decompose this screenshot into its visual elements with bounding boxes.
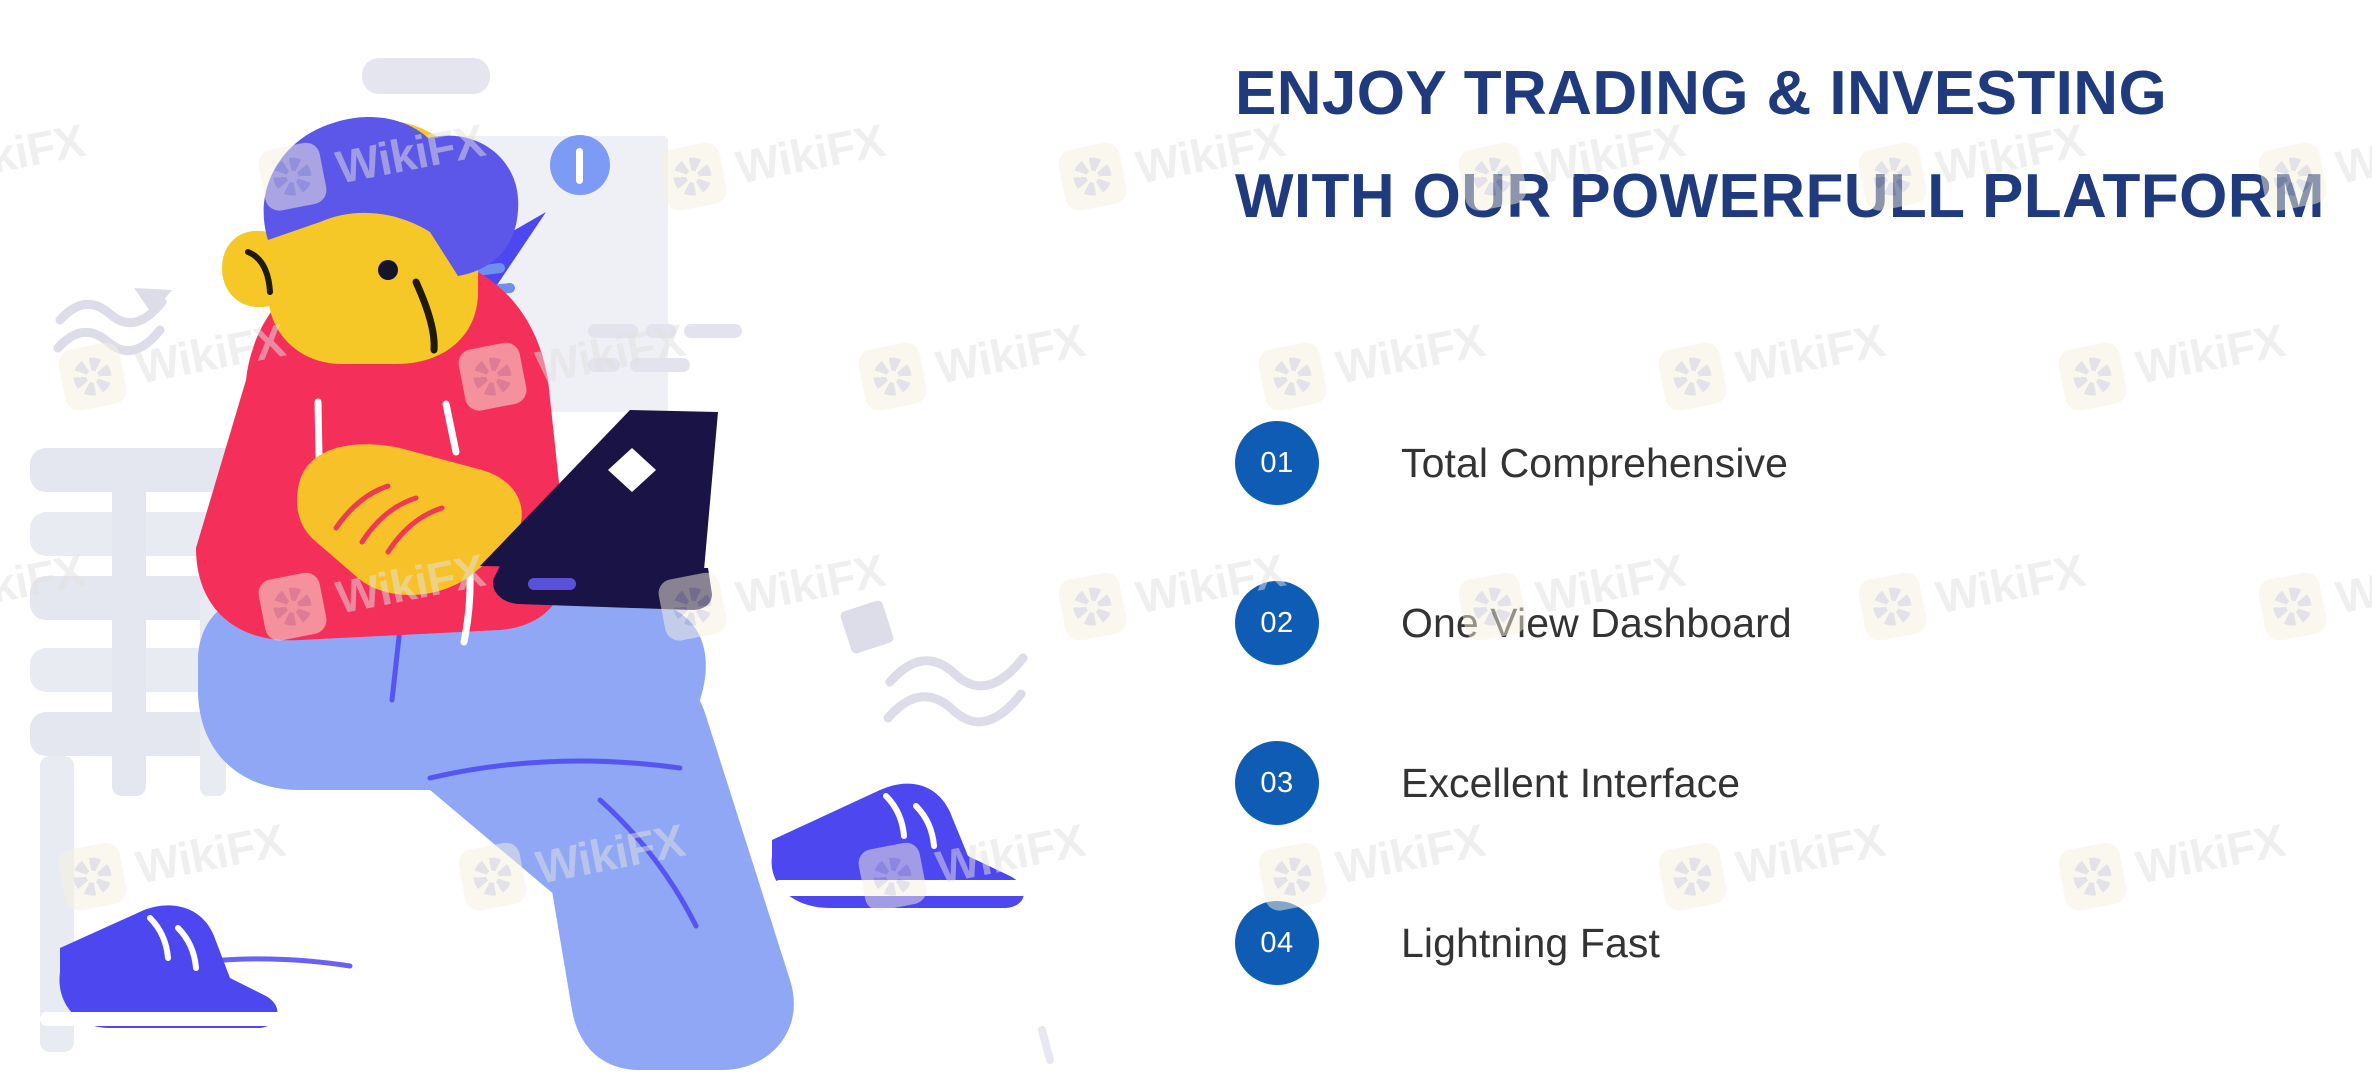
list-item[interactable]: 03 Excellent Interface: [1235, 730, 2325, 836]
list-item[interactable]: 04 Lightning Fast: [1235, 890, 2325, 996]
feature-list: 01 Total Comprehensive 02 One View Dashb…: [1235, 410, 2325, 1050]
info-badge-icon: [550, 135, 610, 195]
person-pants-front-leg: [525, 650, 794, 1070]
watermark-text: WikiFX: [2332, 543, 2372, 625]
page-title: ENJOY TRADING & INVESTING WITH OUR POWER…: [1235, 42, 2325, 248]
feature-label: One View Dashboard: [1401, 600, 1792, 647]
feature-number-badge: 04: [1235, 901, 1319, 985]
tick-marker: [1042, 1030, 1050, 1060]
illustration-man-with-laptop: [0, 0, 1180, 1082]
sneaker-back: [40, 905, 294, 1028]
promo-banner: ENJOY TRADING & INVESTING WITH OUR POWER…: [0, 0, 2372, 1082]
feature-label: Lightning Fast: [1401, 920, 1660, 967]
list-item[interactable]: 02 One View Dashboard: [1235, 570, 2325, 676]
feature-number-badge: 02: [1235, 581, 1319, 665]
diamond-marker: [839, 599, 894, 654]
list-item[interactable]: 01 Total Comprehensive: [1235, 410, 2325, 516]
wave-lines-right: [888, 658, 1023, 722]
wave-lines-left: [58, 302, 162, 351]
sneaker-front: [772, 784, 1030, 908]
watermark-text: WikiFX: [2332, 113, 2372, 195]
eye: [378, 260, 398, 280]
feature-label: Total Comprehensive: [1401, 440, 1788, 487]
content-panel: ENJOY TRADING & INVESTING WITH OUR POWER…: [1235, 0, 2335, 1082]
feature-label: Excellent Interface: [1401, 760, 1740, 807]
feature-number-badge: 01: [1235, 421, 1319, 505]
feature-number-badge: 03: [1235, 741, 1319, 825]
